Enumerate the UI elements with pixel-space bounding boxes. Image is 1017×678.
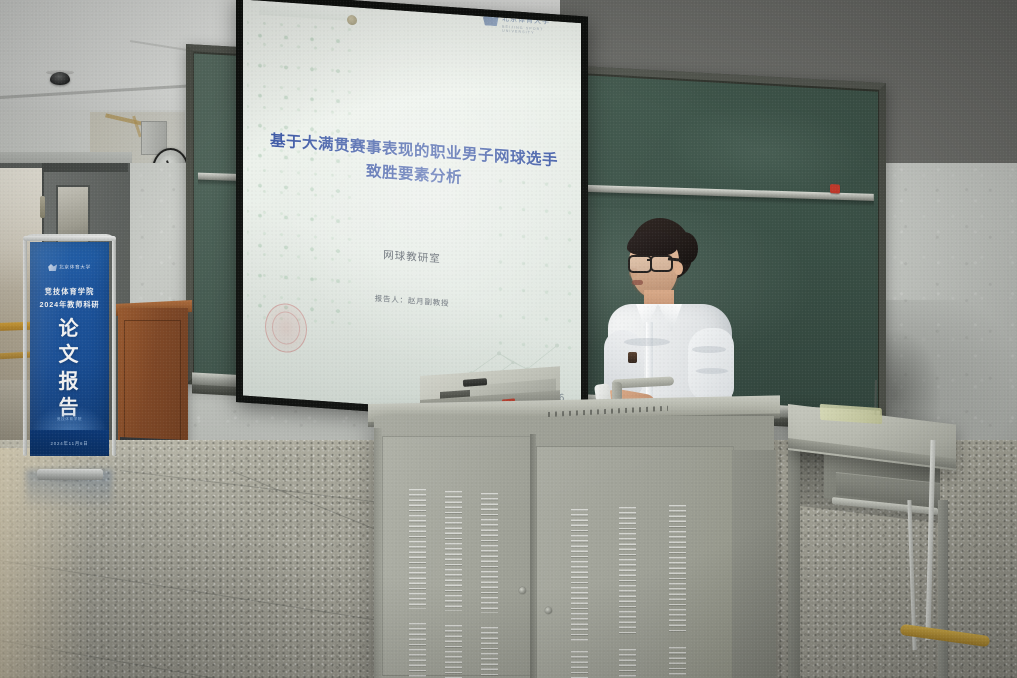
lectern-panel <box>124 320 181 446</box>
cabinet-lock-left[interactable] <box>519 587 526 594</box>
glasses-icon <box>628 255 652 273</box>
banner-top-bar <box>23 236 116 241</box>
cabinet-vent <box>409 623 426 678</box>
podium-right-side-panel <box>732 450 776 678</box>
shirt-fold <box>696 368 728 374</box>
cabinet-vent <box>669 505 686 633</box>
shirt-fold <box>692 346 726 353</box>
cabinet-vent <box>571 651 588 678</box>
cabinet-vent <box>409 489 426 609</box>
door-handle[interactable] <box>40 196 45 218</box>
cabinet-vent <box>619 507 636 637</box>
banner-footer-text: 2024年11月6日 <box>30 441 109 447</box>
cabinet-vent <box>445 491 462 611</box>
banner-pole-left <box>23 238 27 456</box>
presenter-ear <box>674 262 683 275</box>
cabinet-vent <box>445 625 462 678</box>
banner-headline-char-1: 论 <box>30 316 109 342</box>
banner-emblem-icon <box>48 264 57 271</box>
banner-logo: 北京体育大学 <box>30 264 109 271</box>
banner-headline-char-2: 文 <box>30 342 109 368</box>
banner-pole-right <box>112 238 116 456</box>
cabinet-vent <box>571 509 588 641</box>
side-table-leg-right <box>938 500 948 678</box>
banner-line-2: 2024年教师科研 <box>30 300 109 310</box>
cabinet-vent <box>669 647 686 678</box>
screen-border <box>236 0 588 427</box>
cabinet-vent <box>481 627 498 678</box>
presenter-sleeve-right <box>688 328 734 402</box>
banner-line-1: 竞技体育学院 <box>30 287 109 297</box>
door-header-bar <box>42 163 128 172</box>
shirt-badge-icon <box>628 352 637 363</box>
podium-left-edge <box>374 428 382 678</box>
cabinet-door-left[interactable] <box>382 436 532 676</box>
classroom-presentation-photo: 北京体育大学 BEIJING SPORT UNIVERSITY 基于大满贯赛事表… <box>0 0 1017 678</box>
cabinet-lock-right[interactable] <box>545 607 552 614</box>
banner-cloth: 北京体育大学 竞技体育学院 2024年教师科研 论 文 报 告 竞技体育学院 2… <box>30 242 109 456</box>
projection-screen: 北京体育大学 BEIJING SPORT UNIVERSITY 基于大满贯赛事表… <box>236 0 588 427</box>
banner-base-foot <box>37 469 103 480</box>
rollup-banner: 北京体育大学 竞技体育学院 2024年教师科研 论 文 报 告 竞技体育学院 2… <box>23 224 116 468</box>
glasses-bridge <box>647 259 652 261</box>
cabinet-door-right[interactable] <box>536 446 734 678</box>
banner-wave-graphic <box>30 404 109 430</box>
presenter-mouth <box>632 280 643 285</box>
banner-headline-char-3: 报 <box>30 369 109 395</box>
side-table-leg-left <box>788 430 800 678</box>
cabinet-vent <box>619 649 636 678</box>
dome-camera-icon <box>50 72 70 85</box>
shirt-fold <box>624 338 670 346</box>
cabinet-vent <box>481 493 498 613</box>
banner-logo-text: 北京体育大学 <box>59 265 91 270</box>
